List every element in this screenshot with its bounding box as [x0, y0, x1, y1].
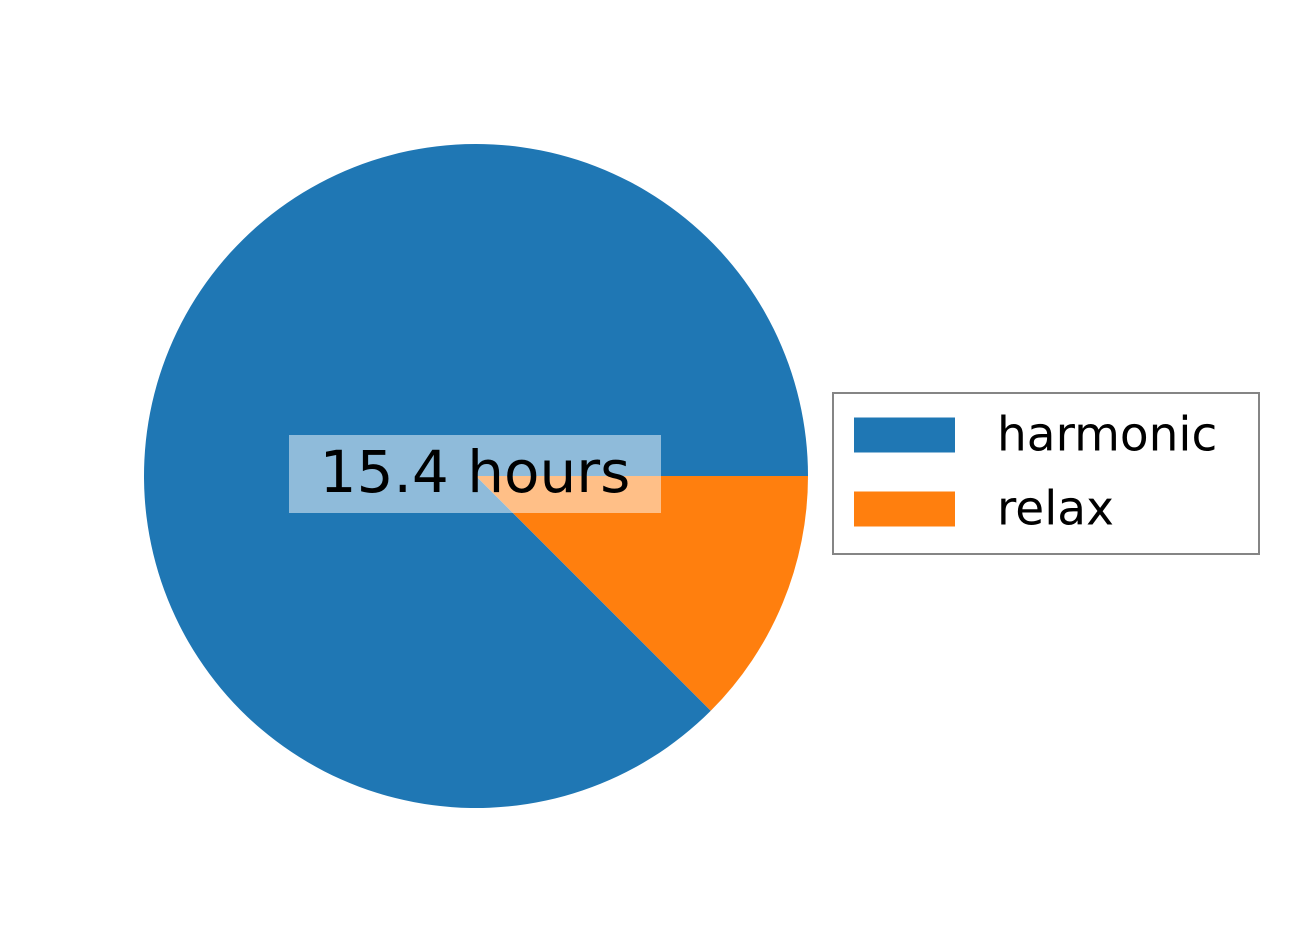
legend-swatch-relax [854, 492, 955, 527]
label-value-text: 15.4 hours [320, 443, 631, 505]
legend-entry-relax[interactable]: relax [834, 484, 1258, 534]
legend-label-relax: relax [997, 486, 1114, 533]
chart-legend: harmonic relax [832, 392, 1260, 555]
pie-wedge-label-harmonic: 15.4 hours [289, 435, 661, 513]
figure-canvas: 15.4 hours harmonic relax [0, 0, 1307, 951]
legend-label-harmonic: harmonic [997, 412, 1217, 459]
legend-swatch-harmonic [854, 418, 955, 453]
legend-entry-harmonic[interactable]: harmonic [834, 410, 1258, 460]
